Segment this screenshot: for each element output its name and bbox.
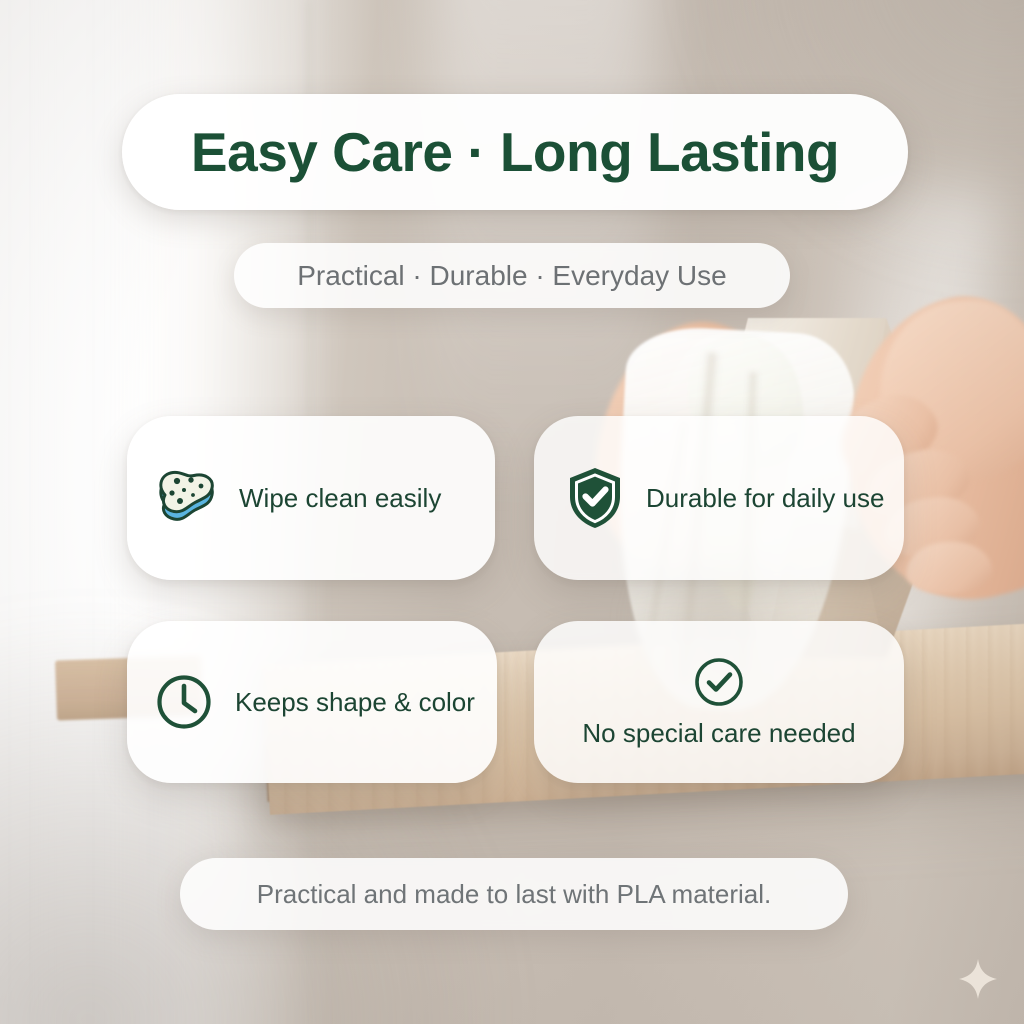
footer-caption: Practical and made to last with PLA mate… (257, 879, 771, 910)
feature-card-keeps-shape: Keeps shape & color (127, 621, 497, 783)
overlay-content: Easy Care · Long Lasting Practical · Dur… (0, 0, 1024, 1024)
feature-label: Keeps shape & color (235, 687, 475, 718)
shield-check-icon (566, 466, 624, 530)
feature-label: Wipe clean easily (239, 483, 441, 514)
feature-label: Durable for daily use (646, 483, 884, 514)
sparkle-icon (958, 958, 998, 1000)
title-pill: Easy Care · Long Lasting (122, 94, 908, 210)
feature-card-wipe-clean: Wipe clean easily (127, 416, 495, 580)
sponge-icon (155, 470, 217, 526)
page-title: Easy Care · Long Lasting (191, 120, 839, 184)
subtitle-pill: Practical · Durable · Everyday Use (234, 243, 790, 308)
feature-label: No special care needed (582, 718, 855, 749)
caption-pill: Practical and made to last with PLA mate… (180, 858, 848, 930)
page-subtitle: Practical · Durable · Everyday Use (297, 260, 726, 292)
clock-icon (155, 673, 213, 731)
feature-card-durable: Durable for daily use (534, 416, 904, 580)
check-circle-icon (693, 656, 745, 708)
feature-card-no-special-care: No special care needed (534, 621, 904, 783)
